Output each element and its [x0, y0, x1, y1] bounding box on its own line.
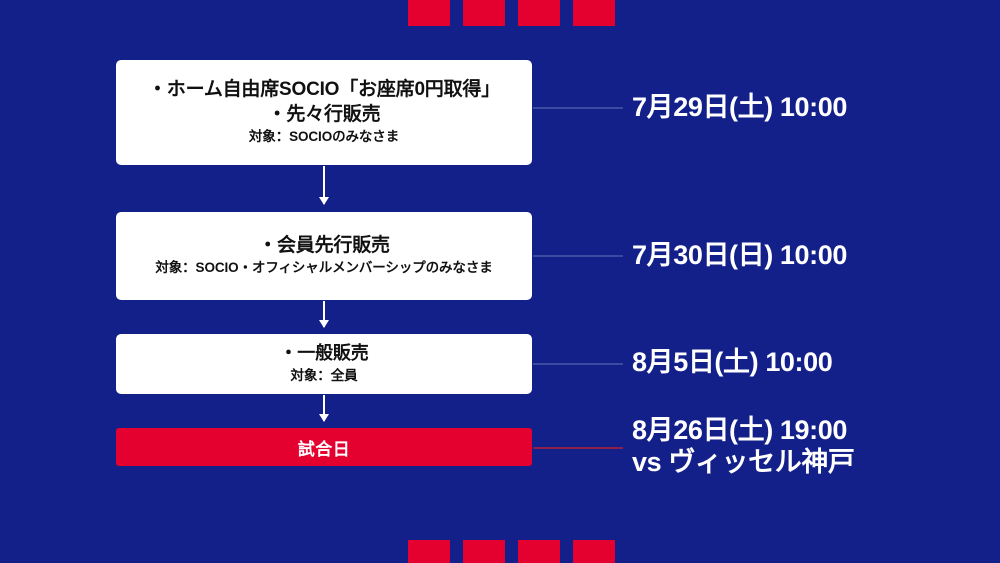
connector-line-member-presale [533, 255, 623, 257]
connector-line-match-day [533, 447, 623, 449]
date-label-match-day: 8月26日(土) 19:00 vs ヴィッセル神戸 [632, 415, 855, 479]
tick-bar-bottom-1 [408, 540, 450, 563]
flow-arrow-2 [323, 301, 325, 327]
step-line-primary: ・一般販売 [280, 342, 369, 366]
tick-bar-top-1 [408, 0, 450, 26]
step-line-primary: ・ホーム自由席SOCIO「お座席0円取得」 [148, 77, 500, 102]
date-text: 8月5日(土) 10:00 [632, 347, 832, 377]
date-text: 7月29日(土) 10:00 [632, 92, 847, 122]
flow-arrow-3 [323, 395, 325, 421]
connector-line-general-sale [533, 363, 623, 365]
ticket-schedule-infographic: ・ホーム自由席SOCIO「お座席0円取得」 ・先々行販売 対象：SOCIOのみな… [0, 0, 1000, 563]
step-target-audience: 対象：SOCIO・オフィシャルメンバーシップのみなさま [155, 258, 492, 278]
tick-bar-bottom-3 [518, 540, 560, 563]
date-label-socio-advance: 7月29日(土) 10:00 [632, 92, 847, 124]
step-target-audience: 対象：全員 [291, 366, 358, 386]
step-box-general-sale: ・一般販売 対象：全員 [116, 334, 532, 394]
tick-bar-top-4 [573, 0, 615, 26]
step-line-secondary: ・先々行販売 [268, 102, 381, 127]
tick-bar-top-2 [463, 0, 505, 26]
date-label-general-sale: 8月5日(土) 10:00 [632, 347, 832, 379]
date-label-member-presale: 7月30日(日) 10:00 [632, 240, 847, 272]
tick-bar-bottom-4 [573, 540, 615, 563]
step-box-socio-advance: ・ホーム自由席SOCIO「お座席0円取得」 ・先々行販売 対象：SOCIOのみな… [116, 60, 532, 165]
flow-arrow-1 [323, 166, 325, 204]
step-target-audience: 対象：SOCIOのみなさま [249, 127, 399, 147]
connector-line-socio-advance [533, 107, 623, 109]
date-text: 8月26日(土) 19:00 [632, 415, 847, 445]
step-line-primary: ・会員先行販売 [258, 233, 390, 258]
step-box-member-presale: ・会員先行販売 対象：SOCIO・オフィシャルメンバーシップのみなさま [116, 212, 532, 300]
opponent-text: vs ヴィッセル神戸 [632, 447, 855, 479]
date-text: 7月30日(日) 10:00 [632, 240, 847, 270]
step-box-match-day: 試合日 [116, 428, 532, 466]
match-day-label: 試合日 [298, 435, 351, 460]
tick-bar-top-3 [518, 0, 560, 26]
tick-bar-bottom-2 [463, 540, 505, 563]
